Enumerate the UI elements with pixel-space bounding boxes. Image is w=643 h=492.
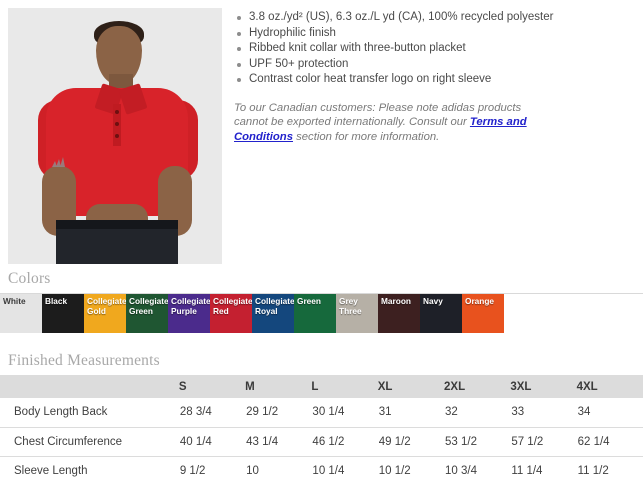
list-item: UPF 50+ protection: [234, 57, 635, 73]
measurements-heading: Finished Measurements: [0, 352, 643, 375]
measurement-value: 30 1/4: [311, 398, 377, 427]
polo-button-3: [115, 134, 119, 138]
color-swatch-label: Collegiate Gold: [87, 297, 125, 316]
color-swatch-label: Collegiate Red: [213, 297, 251, 316]
polo-button-2: [115, 122, 119, 126]
measurement-value: 53 1/2: [444, 427, 510, 456]
table-row: Chest Circumference 40 1/4 43 1/4 46 1/2…: [0, 427, 643, 456]
measurement-value: 28 3/4: [179, 398, 245, 427]
measurement-value: 40 1/4: [179, 427, 245, 456]
note-text-after: section for more information.: [293, 131, 439, 143]
adidas-logo-icon: [52, 156, 66, 167]
color-swatch[interactable]: White: [0, 294, 42, 333]
color-swatch-label: Collegiate Royal: [255, 297, 293, 316]
table-header-row: S M L XL 2XL 3XL 4XL: [0, 375, 643, 398]
color-swatch[interactable]: Collegiate Gold: [84, 294, 126, 333]
model-belt: [56, 220, 178, 229]
color-swatch-label: Collegiate Green: [129, 297, 167, 316]
product-image[interactable]: [8, 8, 222, 264]
polo-button-1: [115, 110, 119, 114]
product-detail-page: 3.8 oz./yd² (US), 6.3 oz./L yd (CA), 100…: [0, 0, 643, 492]
size-header-l: L: [311, 375, 377, 398]
measurement-value: 11 1/4: [510, 456, 576, 485]
measurement-value: 32: [444, 398, 510, 427]
color-swatch[interactable]: Collegiate Purple: [168, 294, 210, 333]
list-item: Hydrophilic finish: [234, 26, 635, 42]
color-swatch-label: Navy: [423, 297, 461, 307]
measurement-value: 29 1/2: [245, 398, 311, 427]
color-swatch-label: Orange: [465, 297, 503, 307]
measurement-value: 10 3/4: [444, 456, 510, 485]
color-swatch[interactable]: Grey Three: [336, 294, 378, 333]
measurement-name-header: [0, 375, 179, 398]
color-swatch-label: Black: [45, 297, 83, 307]
color-swatch[interactable]: Green: [294, 294, 336, 333]
colors-section: Colors White Black Collegiate Gold Colle…: [0, 270, 643, 333]
color-swatch[interactable]: Collegiate Green: [126, 294, 168, 333]
measurement-label: Sleeve Length: [0, 456, 179, 485]
color-swatch[interactable]: Maroon: [378, 294, 420, 333]
list-item: 3.8 oz./yd² (US), 6.3 oz./L yd (CA), 100…: [234, 10, 635, 26]
color-swatch[interactable]: Collegiate Royal: [252, 294, 294, 333]
measurement-value: 9 1/2: [179, 456, 245, 485]
measurement-value: 10 1/4: [311, 456, 377, 485]
colors-heading: Colors: [0, 270, 643, 293]
list-item: Contrast color heat transfer logo on rig…: [234, 72, 635, 88]
measurement-value: 11 1/2: [577, 456, 643, 485]
color-swatch-label: Collegiate Purple: [171, 297, 209, 316]
color-swatch-row: White Black Collegiate Gold Collegiate G…: [0, 294, 643, 333]
measurement-value: 10 1/2: [378, 456, 444, 485]
size-header-xl: XL: [378, 375, 444, 398]
color-swatch[interactable]: Collegiate Red: [210, 294, 252, 333]
measurement-value: 31: [378, 398, 444, 427]
table-row: Sleeve Length 9 1/2 10 10 1/4 10 1/2 10 …: [0, 456, 643, 485]
measurement-value: 10: [245, 456, 311, 485]
product-specs: 3.8 oz./yd² (US), 6.3 oz./L yd (CA), 100…: [222, 0, 643, 156]
measurement-label: Chest Circumference: [0, 427, 179, 456]
color-swatch-label: Grey Three: [339, 297, 377, 316]
color-swatch-label: White: [3, 297, 41, 307]
size-header-m: M: [245, 375, 311, 398]
size-header-3xl: 3XL: [510, 375, 576, 398]
measurements-table: S M L XL 2XL 3XL 4XL Body Length Back 28…: [0, 375, 643, 485]
measurements-section: Finished Measurements S M L XL 2XL 3XL 4…: [0, 352, 643, 485]
color-swatch-label: Maroon: [381, 297, 419, 307]
list-item: Ribbed knit collar with three-button pla…: [234, 41, 635, 57]
product-overview: 3.8 oz./yd² (US), 6.3 oz./L yd (CA), 100…: [0, 0, 643, 264]
color-swatch[interactable]: Navy: [420, 294, 462, 333]
measurement-value: 57 1/2: [510, 427, 576, 456]
measurement-value: 34: [577, 398, 643, 427]
measurement-value: 62 1/4: [577, 427, 643, 456]
size-header-2xl: 2XL: [444, 375, 510, 398]
color-swatch[interactable]: Orange: [462, 294, 504, 333]
table-row: Body Length Back 28 3/4 29 1/2 30 1/4 31…: [0, 398, 643, 427]
measurement-label: Body Length Back: [0, 398, 179, 427]
feature-list: 3.8 oz./yd² (US), 6.3 oz./L yd (CA), 100…: [234, 10, 635, 88]
color-swatch[interactable]: Black: [42, 294, 84, 333]
canadian-customers-note: To our Canadian customers: Please note a…: [234, 101, 546, 145]
size-header-4xl: 4XL: [577, 375, 643, 398]
color-swatch-label: Green: [297, 297, 335, 307]
measurement-value: 46 1/2: [311, 427, 377, 456]
measurement-value: 43 1/4: [245, 427, 311, 456]
measurement-value: 33: [510, 398, 576, 427]
size-header-s: S: [179, 375, 245, 398]
measurement-value: 49 1/2: [378, 427, 444, 456]
